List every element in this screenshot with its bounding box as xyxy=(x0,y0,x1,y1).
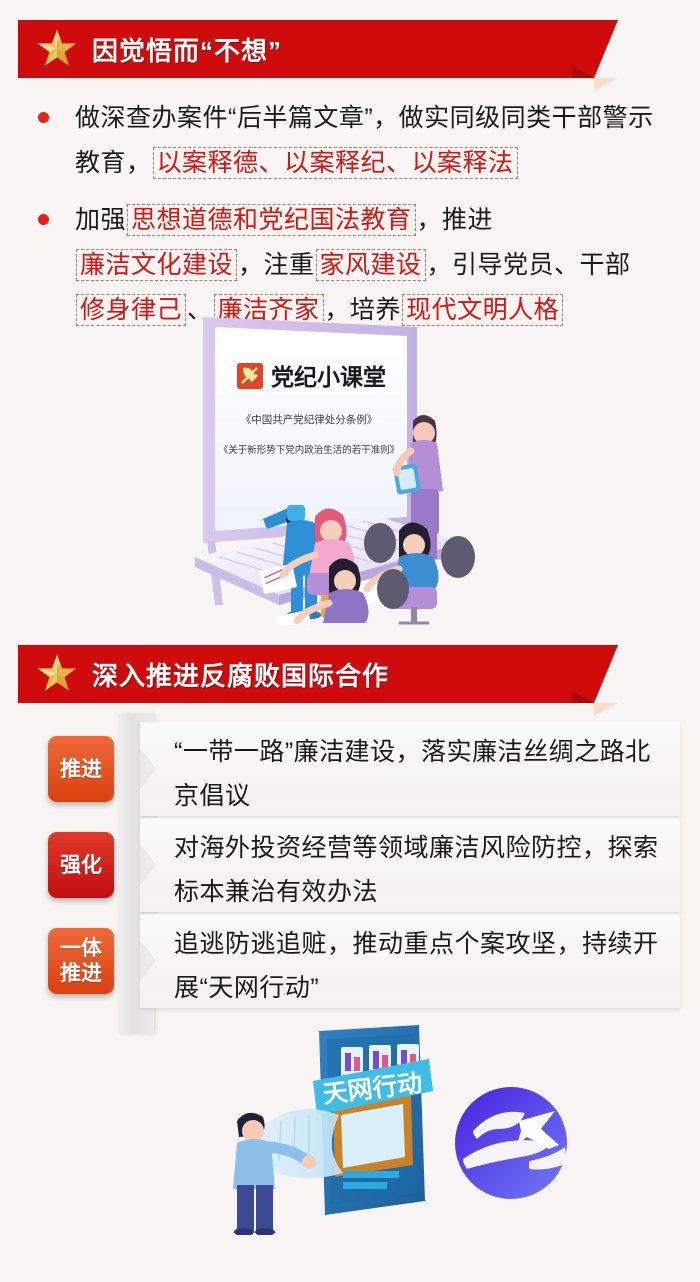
row-text: 追逃防逃追赃，推动重点个案攻坚，持续开展“天网行动” xyxy=(174,922,666,1010)
highlight-phrase: 家风建设 xyxy=(316,249,426,281)
row-panel: 对海外投资经营等领域廉洁风险防控，探索标本兼治有效办法 xyxy=(140,818,680,912)
whiteboard-heading: 党纪小课堂 xyxy=(271,364,386,390)
highlight-phrase: 思想道德和党纪国法教育 xyxy=(127,204,416,236)
party-discipline-classroom-illustration: 党纪小课堂 《中国共产党纪律处分条例》 《关于新形势下党内政治生活的若干准则》 xyxy=(175,305,535,625)
section-1-banner: 因觉悟而“不想” xyxy=(18,20,594,78)
bullet-item: 做深查办案件“后半篇文章”，做实同级同类干部警示教育，以案释德、以案释纪、以案释… xyxy=(0,96,700,186)
list-row[interactable]: 对海外投资经营等领域廉洁风险防控，探索标本兼治有效办法 强化 xyxy=(0,818,700,912)
banner-fold-shadow xyxy=(572,66,594,78)
section-2-banner: 深入推进反腐败国际合作 xyxy=(18,645,594,703)
banner-fold-corner xyxy=(594,703,618,716)
international-cooperation-list: “一带一路”廉洁建设，落实廉洁丝绸之路北京倡议 推进 对海外投资经营等领域廉洁风… xyxy=(0,722,700,1042)
row-panel: 追逃防逃追赃，推动重点个案攻坚，持续开展“天网行动” xyxy=(140,914,680,1008)
bullet-text-plain: ，推进 xyxy=(417,206,494,234)
bullet-text: 做深查办案件“后半篇文章”，做实同级同类干部警示教育，以案释德、以案释纪、以案释… xyxy=(75,96,660,186)
row-tag-label: 一体推进 xyxy=(60,936,102,986)
section-2-title: 深入推进反腐败国际合作 xyxy=(92,656,389,693)
gold-star-icon xyxy=(36,653,78,695)
bullet-text-plain: ，引导党员、干部 xyxy=(427,251,631,279)
row-tag[interactable]: 一体推进 xyxy=(48,928,114,994)
highlight-phrase: 以案释德、以案释纪、以案释法 xyxy=(153,147,518,179)
globe-airplane-icon xyxy=(455,1087,567,1199)
row-text: 对海外投资经营等领域廉洁风险防控，探索标本兼治有效办法 xyxy=(174,826,666,914)
bullet-dot-icon xyxy=(38,112,49,123)
bullet-text-plain: ，注重 xyxy=(238,251,315,279)
list-row[interactable]: “一带一路”廉洁建设，落实廉洁丝绸之路北京倡议 推进 xyxy=(0,722,700,816)
row-tag-label: 强化 xyxy=(60,853,102,878)
highlight-phrase: 廉洁文化建设 xyxy=(76,249,237,281)
row-tag-label: 推进 xyxy=(60,757,102,782)
whiteboard-line-2: 《关于新形势下党内政治生活的若干准则》 xyxy=(219,444,400,456)
highlight-phrase: 修身律己 xyxy=(76,294,186,326)
skynet-operation-illustration: 天网行动 xyxy=(215,1025,615,1235)
bullet-text-plain: 加强 xyxy=(75,206,126,234)
banner-fold-shadow xyxy=(572,691,594,703)
gold-star-icon xyxy=(36,28,78,70)
row-tag[interactable]: 推进 xyxy=(48,736,114,802)
banner-fold-corner xyxy=(594,78,618,91)
list-row[interactable]: 追逃防逃追赃，推动重点个案攻坚，持续开展“天网行动” 一体推进 xyxy=(0,914,700,1008)
whiteboard-line-1: 《中国共产党纪律处分条例》 xyxy=(241,413,378,426)
row-panel: “一带一路”廉洁建设，落实廉洁丝绸之路北京倡议 xyxy=(140,722,680,816)
hammer-sickle-icon xyxy=(237,363,263,389)
row-tag[interactable]: 强化 xyxy=(48,832,114,898)
bullet-dot-icon xyxy=(38,214,49,225)
section-1-title: 因觉悟而“不想” xyxy=(92,31,282,68)
row-text: “一带一路”廉洁建设，落实廉洁丝绸之路北京倡议 xyxy=(174,730,666,818)
